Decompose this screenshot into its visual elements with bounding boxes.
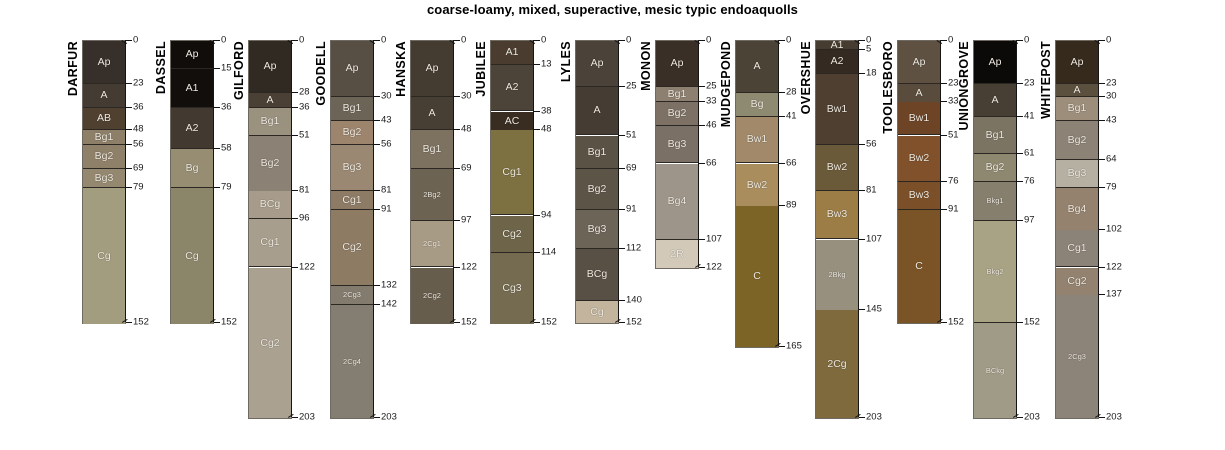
horizon-a: A (974, 84, 1016, 117)
depth-tick (779, 163, 785, 164)
depth-tick-label: 94 (541, 210, 552, 220)
depth-tick (941, 40, 947, 41)
depth-tick (126, 322, 132, 323)
depth-tick (214, 68, 220, 69)
depth-tick (619, 248, 625, 249)
depth-tick (126, 129, 132, 130)
profile-column: ApABg1Bg2Bg3Bg4Cg1Cg22Cg3 (1055, 40, 1099, 419)
horizon-ap: Ap (331, 41, 373, 97)
depth-tick (126, 168, 132, 169)
pedon-name-label: MUDGEPOND (719, 41, 733, 127)
depth-tick (292, 417, 298, 418)
depth-tick-label: 23 (133, 78, 144, 88)
horizon-label: Ap (98, 57, 111, 68)
depth-tick-label: 30 (381, 91, 392, 101)
depth-tick (619, 135, 625, 136)
horizon-label: A (266, 95, 273, 106)
depth-tick-label: 107 (706, 234, 722, 244)
depth-tick-label: 69 (626, 163, 637, 173)
horizon-label: 2Bkg (828, 271, 845, 279)
depth-tick-label: 76 (1024, 176, 1035, 186)
depth-tick-label: 152 (133, 317, 149, 327)
horizon-label: Bg2 (95, 151, 114, 162)
horizon-label: Bw1 (747, 134, 767, 145)
profile-column: ApBg1Bg2Bg3Bg42R (655, 40, 699, 269)
depth-tick-label: 97 (1024, 215, 1035, 225)
horizon-cg2: Cg2 (331, 210, 373, 286)
horizon-label: Cg1 (502, 167, 521, 178)
pedon-name-label: LYLES (559, 41, 573, 82)
depth-tick (292, 40, 298, 41)
depth-tick-label: 51 (299, 130, 310, 140)
depth-tick (941, 181, 947, 182)
depth-tick-label: 41 (1024, 111, 1035, 121)
depth-tick (292, 190, 298, 191)
horizon-a: A (249, 93, 291, 108)
horizon-bg1: Bg1 (249, 108, 291, 136)
horizon-bw2: Bw2 (816, 145, 858, 191)
depth-tick (1099, 159, 1105, 160)
horizon-cg1: Cg1 (1056, 230, 1098, 267)
depth-tick-label: 25 (626, 81, 637, 91)
horizon-label: Bg2 (343, 127, 362, 138)
horizon-label: Ap (989, 57, 1002, 68)
horizon-label: A (991, 95, 998, 106)
depth-tick (454, 40, 460, 41)
depth-tick (126, 144, 132, 145)
depth-tick (859, 73, 865, 74)
depth-tick-label: 36 (133, 102, 144, 112)
depth-tick (859, 417, 865, 418)
horizon-bg3: Bg3 (1056, 160, 1098, 188)
depth-tick (126, 40, 132, 41)
horizon-cg: Cg (171, 188, 213, 324)
depth-axis (698, 40, 699, 267)
depth-tick (619, 209, 625, 210)
horizon-bg1: Bg1 (656, 87, 698, 102)
depth-tick-label: 51 (948, 130, 959, 140)
horizon-a1: A1 (171, 69, 213, 108)
depth-tick-label: 122 (1106, 262, 1122, 272)
depth-tick-label: 203 (381, 412, 397, 422)
horizon-label: BCg (587, 269, 607, 280)
horizon-label: AC (505, 116, 520, 127)
horizon-label: BCg (260, 199, 280, 210)
depth-tick-label: 114 (541, 247, 556, 257)
depth-axis (533, 40, 534, 322)
horizon-c: C (736, 206, 778, 347)
depth-tick (454, 129, 460, 130)
depth-tick (534, 322, 540, 323)
depth-tick-label: 56 (133, 139, 144, 149)
depth-tick-label: 51 (626, 130, 637, 140)
depth-tick-label: 102 (1106, 224, 1122, 234)
horizon-label: Bw2 (747, 180, 767, 191)
horizon-label: Bw2 (909, 153, 929, 164)
depth-tick (374, 285, 380, 286)
horizon-label: A2 (506, 82, 519, 93)
depth-tick (292, 107, 298, 108)
depth-tick (1017, 322, 1023, 323)
horizon-ap: Ap (171, 41, 213, 69)
horizon-label: C (753, 271, 761, 282)
horizon-bw1: Bw1 (816, 74, 858, 145)
depth-tick-label: 132 (381, 280, 397, 290)
horizon-label: A (100, 90, 107, 101)
horizon-label: 2Cg3 (343, 291, 361, 299)
horizon-label: Bw3 (909, 190, 929, 201)
horizon-2cg2: 2Cg2 (411, 268, 453, 324)
depth-tick (1099, 187, 1105, 188)
horizon-label: 2Cg1 (423, 240, 441, 248)
horizon-c: C (898, 210, 940, 323)
horizon-bw2: Bw2 (736, 164, 778, 207)
depth-tick-label: 48 (133, 124, 144, 134)
horizon-label: Bg3 (95, 173, 114, 184)
horizon-label: A2 (831, 56, 844, 67)
horizon-ap: Ap (411, 41, 453, 97)
horizon-label: Bw1 (827, 104, 847, 115)
horizon-label: Bg1 (261, 116, 280, 127)
horizon-a: A (83, 84, 125, 108)
horizon-2cg: 2Cg (816, 310, 858, 418)
horizon-label: Cg1 (1067, 243, 1086, 254)
depth-tick-label: 48 (541, 124, 552, 134)
depth-tick (1099, 229, 1105, 230)
depth-tick-label: 66 (706, 158, 717, 168)
horizon-label: 2Cg4 (343, 358, 361, 366)
horizon-label: Bkg2 (986, 268, 1003, 276)
horizon-ap: Ap (1056, 41, 1098, 84)
depth-tick (779, 92, 785, 93)
depth-tick-label: 122 (299, 262, 315, 272)
depth-tick-label: 25 (706, 81, 717, 91)
horizon-label: Bg4 (668, 196, 687, 207)
horizon-2bkg: 2Bkg (816, 240, 858, 311)
depth-axis (1016, 40, 1017, 417)
horizon-label: Cg2 (260, 338, 279, 349)
depth-tick-label: 89 (786, 200, 797, 210)
depth-tick-label: 152 (626, 317, 642, 327)
horizon-label: Bg2 (986, 162, 1005, 173)
depth-tick (859, 309, 865, 310)
horizon-bw2: Bw2 (898, 136, 940, 182)
horizon-bg3: Bg3 (83, 169, 125, 188)
depth-tick-label: 0 (948, 35, 953, 45)
depth-tick-label: 203 (1024, 412, 1040, 422)
horizon-bw1: Bw1 (736, 117, 778, 163)
depth-tick (454, 168, 460, 169)
depth-tick (534, 64, 540, 65)
profile-column: ApABg12Bg22Cg12Cg2 (410, 40, 454, 324)
depth-tick-label: 79 (133, 182, 144, 192)
depth-tick (374, 190, 380, 191)
depth-tick-label: 5 (866, 44, 871, 54)
horizon-bg2: Bg2 (974, 154, 1016, 182)
depth-tick (859, 144, 865, 145)
depth-tick (941, 83, 947, 84)
pedon-name-label: OVERSHUE (799, 41, 813, 114)
depth-axis (213, 40, 214, 322)
horizon-bg: Bg (171, 149, 213, 188)
depth-tick-label: 122 (706, 262, 722, 272)
horizon-label: Cg2 (502, 229, 521, 240)
depth-tick-label: 140 (626, 295, 642, 305)
horizon-label: Bg1 (1068, 103, 1087, 114)
depth-tick-label: 165 (786, 341, 802, 351)
depth-tick-label: 137 (1106, 289, 1122, 299)
depth-tick-label: 79 (1106, 182, 1117, 192)
depth-tick-label: 30 (1106, 91, 1117, 101)
pedon-name-label: DARFUR (66, 41, 80, 96)
pedon-name-label: MONON (639, 41, 653, 91)
horizon-label: C (915, 261, 923, 272)
horizon-bg1: Bg1 (331, 97, 373, 121)
depth-tick-label: 107 (866, 234, 882, 244)
horizon-label: Bg1 (986, 130, 1005, 141)
horizon-a2: A2 (491, 65, 533, 111)
horizon-2r: 2R (656, 240, 698, 268)
depth-tick (454, 267, 460, 268)
horizon-a2: A2 (816, 50, 858, 74)
horizon-bg2: Bg2 (331, 121, 373, 145)
depth-tick (941, 322, 947, 323)
depth-tick-label: 23 (1106, 78, 1117, 88)
profile-column: ApABg1Bg2Bkg1Bkg2BCkg (973, 40, 1017, 419)
depth-tick-label: 48 (461, 124, 472, 134)
profile-column: ApA1A2BgCg (170, 40, 214, 324)
depth-tick-label: 66 (786, 158, 797, 168)
horizon-label: 2Cg2 (423, 292, 441, 300)
horizon-label: Bg4 (1068, 204, 1087, 215)
depth-tick-label: 13 (541, 59, 552, 69)
horizon-bg2: Bg2 (656, 102, 698, 126)
horizon-bg4: Bg4 (1056, 188, 1098, 231)
horizon-cg2: Cg2 (1056, 268, 1098, 296)
horizon-ac: AC (491, 112, 533, 131)
depth-tick (779, 116, 785, 117)
depth-tick-label: 0 (786, 35, 791, 45)
horizon-a: A (576, 87, 618, 135)
depth-tick (619, 86, 625, 87)
horizon-label: Ap (426, 63, 439, 74)
depth-tick-label: 64 (1106, 154, 1117, 164)
depth-tick-label: 33 (706, 96, 717, 106)
horizon-label: A1 (506, 47, 519, 58)
depth-tick (1099, 83, 1105, 84)
depth-tick (1017, 181, 1023, 182)
horizon-label: Bg3 (343, 162, 362, 173)
depth-tick (1017, 220, 1023, 221)
horizon-cg1: Cg1 (491, 130, 533, 215)
horizon-label: A (915, 88, 922, 99)
depth-tick-label: 58 (221, 143, 232, 153)
horizon-label: Ap (186, 49, 199, 60)
depth-tick-label: 152 (1024, 317, 1040, 327)
horizon-label: Cg (590, 307, 603, 318)
depth-tick-label: 23 (1024, 78, 1035, 88)
depth-tick (374, 144, 380, 145)
horizon-cg1: Cg1 (331, 191, 373, 210)
horizon-bw1: Bw1 (898, 102, 940, 135)
depth-tick (619, 322, 625, 323)
depth-tick (214, 107, 220, 108)
horizon-ap: Ap (576, 41, 618, 87)
horizon-bcg: BCg (249, 191, 291, 219)
depth-tick-label: 142 (381, 299, 397, 309)
horizon-label: Cg3 (502, 283, 521, 294)
depth-tick (1099, 96, 1105, 97)
horizon-a: A (736, 41, 778, 93)
horizon-bg2: Bg2 (249, 136, 291, 192)
horizon-label: 2Bg2 (423, 191, 441, 199)
depth-tick (374, 120, 380, 121)
depth-tick-label: 28 (299, 87, 310, 97)
horizon-label: Bg1 (588, 147, 607, 158)
depth-tick-label: 0 (221, 35, 226, 45)
horizon-ap: Ap (898, 41, 940, 84)
pedon-name-label: JUBILEE (474, 41, 488, 97)
depth-axis (453, 40, 454, 322)
depth-tick-label: 0 (381, 35, 386, 45)
depth-axis (778, 40, 779, 346)
depth-tick-label: 203 (1106, 412, 1122, 422)
depth-tick (292, 135, 298, 136)
horizon-label: Ap (1071, 57, 1084, 68)
horizon-label: Cg (185, 251, 198, 262)
depth-tick-label: 41 (786, 111, 797, 121)
horizon-label: Bw1 (909, 113, 929, 124)
depth-tick (1099, 120, 1105, 121)
depth-tick (779, 346, 785, 347)
horizon-cg: Cg (576, 301, 618, 323)
depth-tick (374, 304, 380, 305)
horizon-a: A (411, 97, 453, 130)
depth-tick (534, 129, 540, 130)
horizon-label: 2R (670, 249, 683, 260)
depth-tick-label: 81 (299, 185, 310, 195)
depth-tick-label: 152 (541, 317, 557, 327)
depth-tick-label: 0 (541, 35, 546, 45)
depth-tick-label: 28 (786, 87, 797, 97)
horizon-label: Cg (97, 251, 110, 262)
horizon-label: Cg2 (342, 242, 361, 253)
depth-tick (534, 111, 540, 112)
depth-tick-label: 43 (1106, 115, 1117, 125)
depth-tick (214, 187, 220, 188)
depth-tick (1099, 294, 1105, 295)
depth-tick (534, 252, 540, 253)
horizon-label: Bg3 (1068, 168, 1087, 179)
horizon-ap: Ap (249, 41, 291, 93)
horizon-bg1: Bg1 (576, 136, 618, 169)
horizon-bg4: Bg4 (656, 164, 698, 240)
horizon-label: 2Cg (827, 359, 846, 370)
horizon-label: BCkg (986, 367, 1004, 375)
horizon-label: Bkg1 (986, 197, 1003, 205)
profile-column: ApABg1Bg2Bg3BCgCg (575, 40, 619, 324)
horizon-label: Cg1 (260, 237, 279, 248)
horizon-label: Bg1 (668, 89, 687, 100)
depth-tick-label: 56 (866, 139, 877, 149)
horizon-cg1: Cg1 (249, 219, 291, 267)
horizon-bg1: Bg1 (1056, 97, 1098, 121)
depth-tick (374, 96, 380, 97)
profile-column: ABgBw1Bw2C (735, 40, 779, 348)
depth-tick (126, 107, 132, 108)
horizon-label: Cg2 (1067, 276, 1086, 287)
depth-tick-label: 203 (299, 412, 315, 422)
depth-tick-label: 43 (381, 115, 392, 125)
horizon-bkg2: Bkg2 (974, 221, 1016, 323)
horizon-bg1: Bg1 (974, 117, 1016, 154)
horizon-label: A2 (186, 123, 199, 134)
horizon-bg: Bg (736, 93, 778, 117)
depth-tick (779, 205, 785, 206)
depth-tick (214, 40, 220, 41)
horizon-label: A1 (831, 41, 844, 50)
horizon-label: Ap (913, 57, 926, 68)
depth-tick-label: 203 (866, 412, 882, 422)
profile-column: ApAABBg1Bg2Bg3Cg (82, 40, 126, 324)
horizon-ap: Ap (656, 41, 698, 87)
profile-column: A1A2Bw1Bw2Bw32Bkg2Cg (815, 40, 859, 419)
horizon-bw3: Bw3 (898, 182, 940, 210)
horizon-label: A (428, 108, 435, 119)
depth-tick-label: 56 (381, 139, 392, 149)
horizon-label: A (753, 61, 760, 72)
depth-tick-label: 81 (381, 185, 392, 195)
depth-tick-label: 69 (133, 163, 144, 173)
depth-axis (618, 40, 619, 322)
depth-tick (292, 267, 298, 268)
depth-tick-label: 0 (133, 35, 138, 45)
depth-tick (214, 322, 220, 323)
depth-tick-label: 0 (706, 35, 711, 45)
depth-tick-label: 36 (221, 102, 232, 112)
horizon-bg3: Bg3 (331, 145, 373, 191)
depth-axis (858, 40, 859, 417)
horizon-label: Bg2 (588, 184, 607, 195)
depth-tick (859, 190, 865, 191)
horizon-label: Ap (591, 58, 604, 69)
depth-tick-label: 61 (1024, 148, 1035, 158)
pedon-name-label: TOOLESBORO (881, 41, 895, 134)
depth-tick-label: 69 (461, 163, 472, 173)
depth-tick-label: 76 (948, 176, 959, 186)
horizon-bg3: Bg3 (656, 126, 698, 163)
horizon-label: Bg (751, 99, 764, 110)
depth-tick-label: 152 (221, 317, 237, 327)
depth-tick-label: 145 (866, 304, 882, 314)
depth-tick (941, 135, 947, 136)
horizon-a2: A2 (171, 108, 213, 149)
depth-tick (534, 40, 540, 41)
depth-tick-label: 36 (299, 102, 310, 112)
horizon-2bg2: 2Bg2 (411, 169, 453, 221)
soil-profile-chart: DARFURApAABBg1Bg2Bg3Cg0233648566979152DA… (0, 0, 1225, 450)
depth-tick-label: 96 (299, 213, 310, 223)
depth-tick (699, 125, 705, 126)
depth-tick (534, 215, 540, 216)
pedon-name-label: UNIONGROVE (957, 41, 971, 130)
depth-tick (699, 239, 705, 240)
horizon-bg2: Bg2 (576, 169, 618, 210)
depth-tick (941, 101, 947, 102)
depth-tick-label: 0 (626, 35, 631, 45)
depth-tick-label: 112 (626, 243, 641, 253)
depth-tick (1017, 83, 1023, 84)
